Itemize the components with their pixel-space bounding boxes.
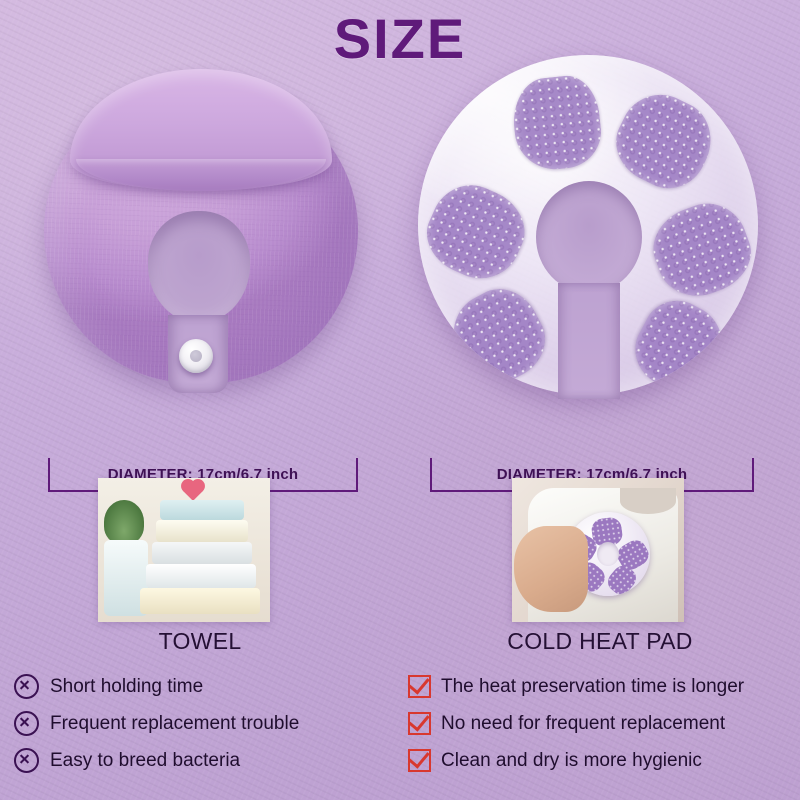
list-item: Frequent replacement trouble (0, 705, 400, 742)
comparison-points-towel: Short holding time Frequent replacement … (0, 668, 400, 779)
towel-stack-item (152, 542, 252, 564)
product-images-area: DIAMETER: 17cm/6.7 inch DIAMETER: 17cm/6… (0, 55, 800, 385)
list-item: No need for frequent replacement (400, 705, 800, 742)
list-item-label: No need for frequent replacement (441, 713, 725, 735)
towel-nipple-opening (148, 211, 250, 323)
x-circle-icon (14, 711, 39, 736)
towel-stack-item (140, 588, 260, 614)
towel-stack-item (146, 564, 256, 588)
gel-bead-cell (440, 276, 558, 395)
comparison-heading-cold-heat-pad: COLD HEAT PAD (400, 628, 800, 655)
check-box-icon (408, 675, 431, 698)
list-item: Easy to breed bacteria (0, 742, 400, 779)
list-item-label: Clean and dry is more hygienic (441, 750, 702, 772)
gel-bead-cell (623, 289, 736, 395)
comparison-heading-towel: TOWEL (0, 628, 400, 655)
comparison-column-cold-heat-pad: COLD HEAT PAD The heat preservation time… (400, 470, 800, 800)
shirt-neckline (620, 488, 676, 514)
list-item-label: Easy to breed bacteria (50, 750, 240, 772)
gel-nipple-opening (536, 181, 642, 293)
gel-bead-breast-pad-image (418, 55, 770, 403)
list-item: The heat preservation time is longer (400, 668, 800, 705)
list-item: Short holding time (0, 668, 400, 705)
towel-stack-item (156, 520, 248, 542)
check-box-icon (408, 749, 431, 772)
gel-nipple-opening (597, 542, 619, 566)
towel-stack-item (160, 500, 244, 520)
comparison-column-towel: TOWEL Short holding time Frequent replac… (0, 470, 400, 800)
comparison-points-cold-heat-pad: The heat preservation time is longer No … (400, 668, 800, 779)
towel-breast-pad-image (36, 63, 366, 393)
hand (514, 526, 588, 612)
list-item-label: Short holding time (50, 676, 203, 698)
stacked-towels-photo (98, 478, 270, 622)
gel-bead-cell (643, 193, 758, 308)
plant-decoration (104, 500, 144, 544)
list-item-label: The heat preservation time is longer (441, 676, 744, 698)
comparison-section: TOWEL Short holding time Frequent replac… (0, 470, 800, 800)
check-box-icon (408, 712, 431, 735)
woman-holding-cold-heat-pad-photo (512, 478, 684, 622)
gel-bottom-gap (558, 283, 620, 399)
towel-snap-button (179, 339, 213, 373)
x-circle-icon (14, 674, 39, 699)
product-infographic: SIZE (0, 0, 800, 800)
list-item-label: Frequent replacement trouble (50, 713, 299, 735)
heart-icon (183, 481, 203, 501)
list-item: Clean and dry is more hygienic (400, 742, 800, 779)
x-circle-icon (14, 748, 39, 773)
